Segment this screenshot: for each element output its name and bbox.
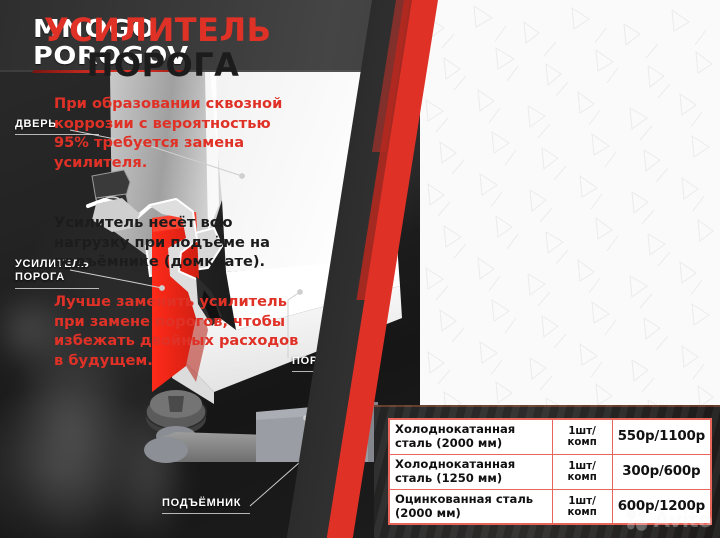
advertisement-poster: MNOGO POROGOV — [0, 0, 720, 538]
cell-quantity: 1шт/комп — [552, 419, 612, 454]
body-paragraph-2: Усилитель несёт всю нагрузку при подъёме… — [54, 213, 302, 272]
body-paragraph-3: Лучше заменить усилитель при замене поро… — [54, 292, 302, 370]
callout-text-jack: ПОДЪЁМНИК — [162, 497, 241, 509]
cell-product-name: Оцинкованная сталь (2000 мм) — [389, 489, 552, 524]
callout-rule-reinforcement — [15, 288, 99, 289]
cell-price: 300р/600р — [612, 454, 711, 489]
headline-group: УСИЛИТЕЛЬ ПОРОГА — [44, 14, 296, 81]
cell-price: 600р/1200р — [612, 489, 711, 524]
cell-quantity: 1шт/комп — [552, 454, 612, 489]
cell-product-name: Холоднокатанная сталь (1250 мм) — [389, 454, 552, 489]
headline-line-2: ПОРОГА — [44, 49, 296, 82]
callout-text-door: ДВЕРЬ — [15, 118, 57, 130]
callout-text-reinforcement-l2: ПОРОГА — [15, 271, 65, 283]
callout-label-jack: ПОДЪЁМНИК — [162, 497, 250, 514]
price-table: Холоднокатанная сталь (2000 мм) 1шт/комп… — [388, 418, 712, 525]
headline-line-1: УСИЛИТЕЛЬ — [44, 14, 296, 47]
table-row: Оцинкованная сталь (2000 мм) 1шт/комп 60… — [389, 489, 711, 524]
table-row: Холоднокатанная сталь (2000 мм) 1шт/комп… — [389, 419, 711, 454]
cell-quantity: 1шт/комп — [552, 489, 612, 524]
cell-price: 550р/1100р — [612, 419, 711, 454]
body-paragraph-1: При образовании сквозной коррозии с веро… — [54, 94, 302, 172]
callout-rule-jack — [162, 513, 250, 514]
table-row: Холоднокатанная сталь (1250 мм) 1шт/комп… — [389, 454, 711, 489]
cell-product-name: Холоднокатанная сталь (2000 мм) — [389, 419, 552, 454]
